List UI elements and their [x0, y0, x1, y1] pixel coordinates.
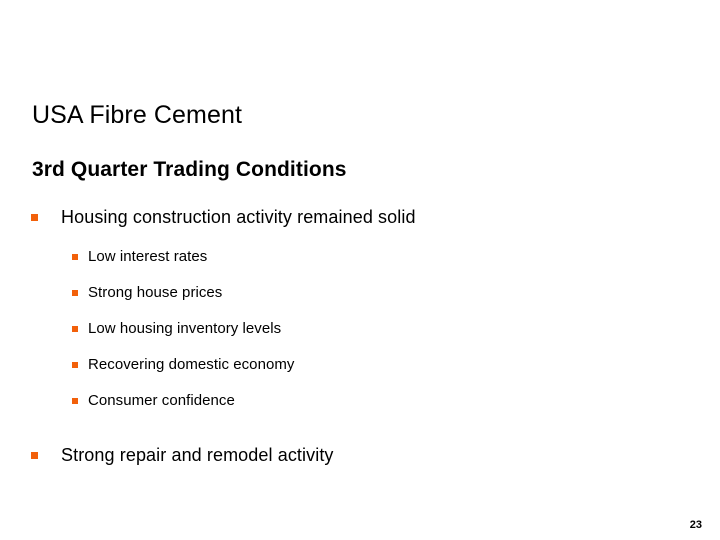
bullet-item-level-2: Strong house prices: [72, 282, 222, 303]
bullet-item-level-1: Housing construction activity remained s…: [31, 205, 416, 229]
square-bullet-icon: [72, 362, 78, 368]
bullet-item-level-2: Consumer confidence: [72, 390, 235, 411]
bullet-item-label: Strong house prices: [88, 282, 222, 303]
bullet-item-level-2: Recovering domestic economy: [72, 354, 294, 375]
slide-subtitle: 3rd Quarter Trading Conditions: [32, 157, 347, 183]
slide-title: USA Fibre Cement: [32, 100, 242, 130]
square-bullet-icon: [31, 214, 38, 221]
square-bullet-icon: [31, 452, 38, 459]
bullet-item-label: Strong repair and remodel activity: [61, 443, 334, 467]
bullet-item-level-1: Strong repair and remodel activity: [31, 443, 334, 467]
bullet-item-label: Low housing inventory levels: [88, 318, 281, 339]
square-bullet-icon: [72, 398, 78, 404]
bullet-item-label: Recovering domestic economy: [88, 354, 294, 375]
slide-canvas: USA Fibre Cement 3rd Quarter Trading Con…: [0, 0, 720, 540]
bullet-item-level-2: Low interest rates: [72, 246, 207, 267]
square-bullet-icon: [72, 326, 78, 332]
square-bullet-icon: [72, 290, 78, 296]
bullet-item-level-2: Low housing inventory levels: [72, 318, 281, 339]
page-number: 23: [690, 518, 702, 532]
square-bullet-icon: [72, 254, 78, 260]
bullet-item-label: Low interest rates: [88, 246, 207, 267]
bullet-item-label: Consumer confidence: [88, 390, 235, 411]
bullet-item-label: Housing construction activity remained s…: [61, 205, 416, 229]
